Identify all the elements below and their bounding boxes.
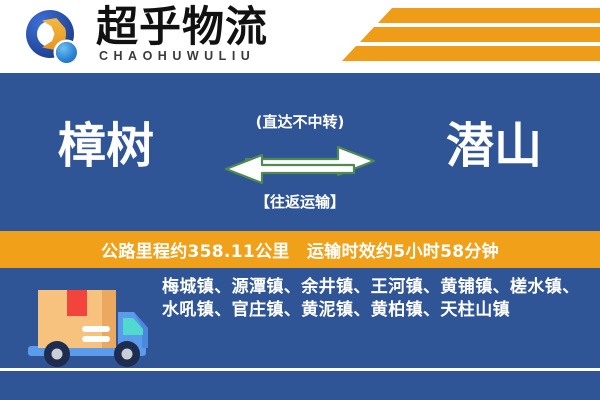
double-headed-arrow-icon (222, 141, 378, 185)
brand-name-pinyin: CHAOHUWULIU (99, 49, 255, 63)
roundtrip-note: 【往返运输】 (222, 191, 378, 212)
header: 超乎物流 CHAOHUWULIU (0, 0, 600, 73)
service-towns-panel: 梅城镇、源潭镇、余井镇、王河镇、黄铺镇、槎水镇、 水吼镇、官庄镇、黄泥镇、黄柏镇… (0, 268, 600, 400)
route-middle-group: (直达不中转) 【往返运输】 (222, 89, 378, 219)
brand-name-chinese: 超乎物流 (96, 4, 268, 50)
destination-city: 潜山 (446, 117, 542, 175)
distance-duration-text: 公路里程约358.11公里 运输时效约5小时58分钟 (101, 237, 499, 262)
towns-line-2: 水吼镇、官庄镇、黄泥镇、黄柏镇、天柱山镇 (162, 299, 586, 322)
delivery-truck-icon (22, 278, 152, 374)
direct-shipping-note: (直达不中转) (222, 111, 378, 132)
orange-speed-stripes-icon (338, 8, 600, 66)
service-towns-list: 梅城镇、源潭镇、余井镇、王河镇、黄铺镇、槎水镇、 水吼镇、官庄镇、黄泥镇、黄柏镇… (162, 276, 586, 322)
company-logo-icon (26, 10, 82, 66)
route-panel: 樟树 (直达不中转) 【往返运输】 潜山 (0, 73, 600, 231)
logo-dot-icon (56, 42, 77, 63)
towns-line-1: 梅城镇、源潭镇、余井镇、王河镇、黄铺镇、槎水镇、 (162, 276, 586, 299)
logistics-banner: 超乎物流 CHAOHUWULIU 樟树 (直达不中转) 【往返运输】 潜山 (0, 0, 600, 400)
bottom-divider (0, 368, 600, 371)
origin-city: 樟树 (58, 117, 154, 175)
distance-duration-bar: 公路里程约358.11公里 运输时效约5小时58分钟 (0, 231, 600, 268)
